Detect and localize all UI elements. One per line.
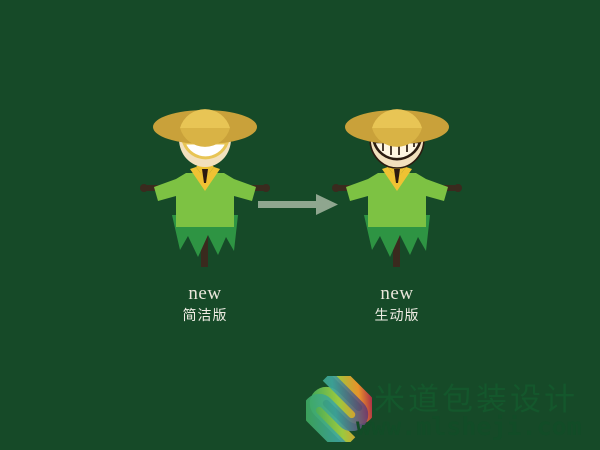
scarecrow-simple	[130, 95, 280, 270]
arm-tip-right	[262, 184, 270, 192]
scarecrow-simple-svg	[130, 95, 280, 270]
brand-url: www.mlsheji.com	[356, 412, 582, 441]
scarecrow-vivid-svg	[322, 95, 472, 270]
caption-simple-en: new	[125, 283, 285, 305]
scarecrow-vivid	[322, 95, 472, 270]
arm-tip-left	[332, 184, 340, 192]
illustration-canvas: new 简洁版 new 生动版	[0, 0, 600, 450]
caption-simple-cn: 简洁版	[125, 306, 285, 326]
arm-tip-right	[454, 184, 462, 192]
caption-vivid: new 生动版	[317, 283, 477, 326]
caption-vivid-en: new	[317, 283, 477, 305]
caption-simple: new 简洁版	[125, 283, 285, 326]
caption-vivid-cn: 生动版	[317, 306, 477, 326]
arm-tip-left	[140, 184, 148, 192]
arrow-shaft	[258, 201, 320, 208]
watermark: 米道包装设计 www.mlsheji.com	[300, 372, 600, 446]
